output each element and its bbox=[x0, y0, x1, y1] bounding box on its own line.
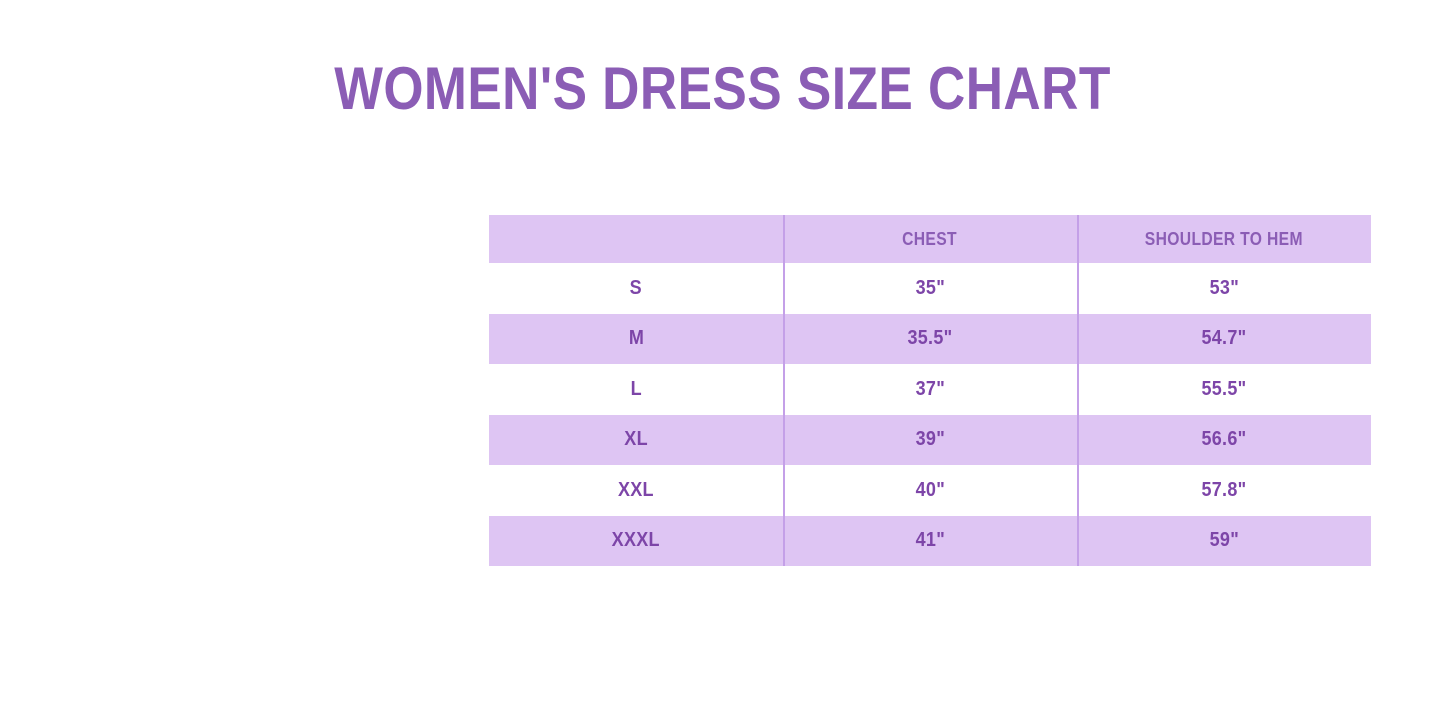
cell-size: S bbox=[489, 263, 783, 314]
table-row: S 35" 53" bbox=[489, 263, 1371, 314]
cell-chest: 35.5" bbox=[783, 314, 1077, 365]
cell-shoulder-to-hem: 59" bbox=[1077, 516, 1371, 567]
cell-size: M bbox=[489, 314, 783, 365]
cell-chest-value: 40" bbox=[915, 479, 944, 502]
table-row: XL 39" 56.6" bbox=[489, 415, 1371, 466]
table-row: L 37" 55.5" bbox=[489, 364, 1371, 415]
cell-chest-value: 35.5" bbox=[908, 327, 953, 350]
cell-size-value: L bbox=[630, 378, 641, 401]
cell-shoulder-to-hem-value: 53" bbox=[1209, 277, 1238, 300]
column-header-shoulder-to-hem-label: SHOULDER TO HEM bbox=[1145, 229, 1303, 250]
cell-size-value: S bbox=[630, 277, 642, 300]
size-chart-page: WOMEN'S DRESS SIZE CHART CHEST SHOULDER … bbox=[0, 0, 1445, 723]
cell-size: XXL bbox=[489, 465, 783, 516]
cell-size-value: M bbox=[628, 327, 643, 350]
table-body: S 35" 53" M 35.5" 54.7" bbox=[489, 263, 1371, 566]
table-header-row: CHEST SHOULDER TO HEM bbox=[489, 215, 1371, 263]
cell-chest: 35" bbox=[783, 263, 1077, 314]
cell-shoulder-to-hem: 55.5" bbox=[1077, 364, 1371, 415]
cell-chest: 40" bbox=[783, 465, 1077, 516]
cell-shoulder-to-hem-value: 56.6" bbox=[1202, 428, 1247, 451]
cell-size-value: XL bbox=[624, 428, 648, 451]
cell-size: L bbox=[489, 364, 783, 415]
cell-shoulder-to-hem: 57.8" bbox=[1077, 465, 1371, 516]
cell-size-value: XXXL bbox=[612, 529, 660, 552]
table-row: XXXL 41" 59" bbox=[489, 516, 1371, 567]
size-chart-table: CHEST SHOULDER TO HEM S 35" 53" bbox=[489, 215, 1371, 566]
table-header: CHEST SHOULDER TO HEM bbox=[489, 215, 1371, 263]
cell-chest: 37" bbox=[783, 364, 1077, 415]
table-row: XXL 40" 57.8" bbox=[489, 465, 1371, 516]
cell-chest-value: 39" bbox=[915, 428, 944, 451]
cell-shoulder-to-hem-value: 57.8" bbox=[1202, 479, 1247, 502]
cell-size-value: XXL bbox=[618, 479, 654, 502]
cell-chest: 41" bbox=[783, 516, 1077, 567]
column-header-chest-label: CHEST bbox=[903, 229, 958, 250]
column-header-shoulder-to-hem: SHOULDER TO HEM bbox=[1077, 215, 1371, 263]
page-title: WOMEN'S DRESS SIZE CHART bbox=[101, 53, 1344, 125]
cell-chest-value: 37" bbox=[915, 378, 944, 401]
cell-size: XL bbox=[489, 415, 783, 466]
cell-shoulder-to-hem-value: 54.7" bbox=[1202, 327, 1247, 350]
cell-chest-value: 41" bbox=[915, 529, 944, 552]
table-row: M 35.5" 54.7" bbox=[489, 314, 1371, 365]
cell-size: XXXL bbox=[489, 516, 783, 567]
cell-chest-value: 35" bbox=[915, 277, 944, 300]
cell-shoulder-to-hem: 53" bbox=[1077, 263, 1371, 314]
column-header-chest: CHEST bbox=[783, 215, 1077, 263]
cell-shoulder-to-hem-value: 59" bbox=[1209, 529, 1238, 552]
cell-shoulder-to-hem-value: 55.5" bbox=[1202, 378, 1247, 401]
cell-shoulder-to-hem: 56.6" bbox=[1077, 415, 1371, 466]
cell-shoulder-to-hem: 54.7" bbox=[1077, 314, 1371, 365]
column-header-size bbox=[489, 215, 783, 263]
cell-chest: 39" bbox=[783, 415, 1077, 466]
